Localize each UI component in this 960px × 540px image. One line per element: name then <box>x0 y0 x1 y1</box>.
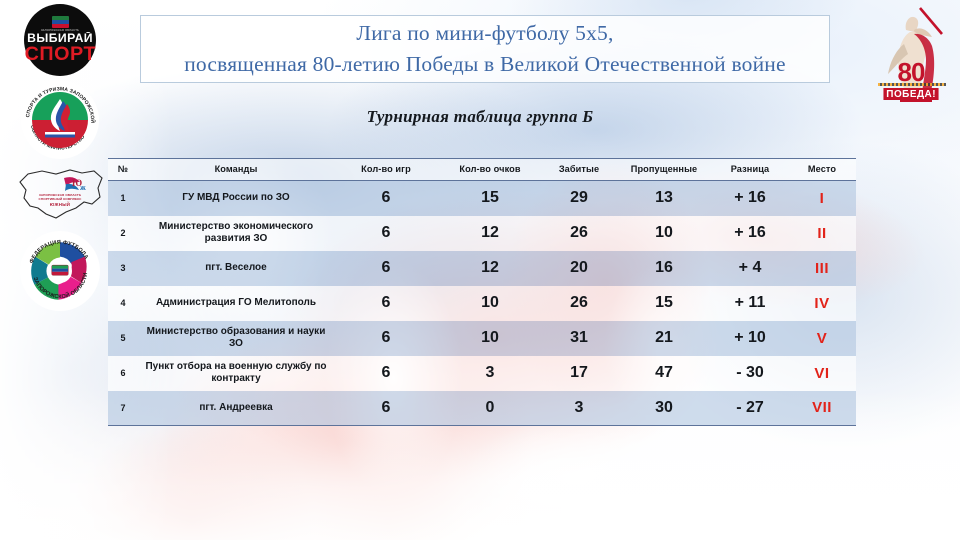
header-points: Кол-во очков <box>438 159 542 181</box>
cell-team: Администрация ГО Мелитополь <box>138 286 334 321</box>
header-team: Команды <box>138 159 334 181</box>
header-number: № <box>108 159 138 181</box>
cell-place: III <box>788 251 856 286</box>
cell-games: 6 <box>334 321 438 356</box>
table-row: 6Пункт отбора на военную службу по контр… <box>108 356 856 391</box>
cell-team: Министерство образования и науки ЗО <box>138 321 334 356</box>
cell-number: 1 <box>108 181 138 216</box>
cell-place: I <box>788 181 856 216</box>
standings-table-head: № Команды Кол-во игр Кол-во очков Забиты… <box>108 159 856 181</box>
svg-text:ж: ж <box>80 183 86 192</box>
cell-goals-for: 17 <box>542 356 616 391</box>
cell-number: 2 <box>108 216 138 251</box>
standings-table-wrapper: № Команды Кол-во игр Кол-во очков Забиты… <box>108 158 856 426</box>
cell-number: 5 <box>108 321 138 356</box>
standings-table: № Команды Кол-во игр Кол-во очков Забиты… <box>108 158 856 426</box>
tricolor-flame-icon <box>47 98 73 132</box>
table-row: 2Министерство экономического развития ЗО… <box>108 216 856 251</box>
logo-victory-label: ПОБЕДА! <box>883 88 938 100</box>
table-row: 4Администрация ГО Мелитополь6102615+ 11I… <box>108 286 856 321</box>
table-row: 1ГУ МВД России по ЗО6152913+ 16I <box>108 181 856 216</box>
cell-goals-against: 30 <box>616 391 712 426</box>
cell-goals-against: 15 <box>616 286 712 321</box>
cell-place: IV <box>788 286 856 321</box>
cell-goals-against: 21 <box>616 321 712 356</box>
logo-vybiray-sport-region: ЗАПОРОЖСКАЯ ОБЛАСТЬ <box>41 29 79 32</box>
title-line-1: Лига по мини-футболу 5х5, <box>356 18 613 49</box>
cell-points: 12 <box>438 216 542 251</box>
cell-team: Министерство экономического развития ЗО <box>138 216 334 251</box>
cell-points: 10 <box>438 321 542 356</box>
cell-place: VII <box>788 391 856 426</box>
logo-victory-text: 80 ПОБЕДА! <box>870 61 952 102</box>
cell-goals-for: 3 <box>542 391 616 426</box>
cell-points: 12 <box>438 251 542 286</box>
logo-football-federation-icon: ФЕДЕРАЦИЯ ФУТБОЛА ЗАПОРОЖСКОЙ ОБЛАСТИ <box>20 231 100 311</box>
subtitle: Турнирная таблица группа Б <box>0 107 960 127</box>
cell-games: 6 <box>334 216 438 251</box>
logo-victory-number: 80 <box>870 61 952 84</box>
table-row: 3пгт. Веселое6122016+ 4III <box>108 251 856 286</box>
cell-place: V <box>788 321 856 356</box>
cell-difference: + 10 <box>712 321 788 356</box>
header-place: Место <box>788 159 856 181</box>
tricolor-shield-icon <box>52 16 69 28</box>
logo-sport-complex-line3: ЮЖНЫЙ <box>17 202 103 207</box>
cell-difference: - 30 <box>712 356 788 391</box>
cell-goals-for: 29 <box>542 181 616 216</box>
cell-team: пгт. Веселое <box>138 251 334 286</box>
cell-number: 7 <box>108 391 138 426</box>
logo-vybiray-sport-word2: СПОРТ <box>24 45 95 64</box>
cell-team: ГУ МВД России по ЗО <box>138 181 334 216</box>
cell-goals-against: 13 <box>616 181 712 216</box>
cell-place: II <box>788 216 856 251</box>
cell-difference: + 16 <box>712 216 788 251</box>
cell-points: 10 <box>438 286 542 321</box>
cell-difference: + 4 <box>712 251 788 286</box>
logo-sport-complex-line2: СПОРТИВНЫЙ КОМПЛЕКС <box>17 197 103 201</box>
cell-games: 6 <box>334 356 438 391</box>
logo-victory-80-icon: 80 ПОБЕДА! <box>870 4 954 104</box>
cell-goals-against: 10 <box>616 216 712 251</box>
cell-team: Пункт отбора на военную службу по контра… <box>138 356 334 391</box>
cell-goals-for: 26 <box>542 286 616 321</box>
table-row: 5Министерство образования и науки ЗО6103… <box>108 321 856 356</box>
cell-team: пгт. Андреевка <box>138 391 334 426</box>
header-row: № Команды Кол-во игр Кол-во очков Забиты… <box>108 159 856 181</box>
header-difference: Разница <box>712 159 788 181</box>
cell-place: VI <box>788 356 856 391</box>
cell-number: 3 <box>108 251 138 286</box>
cell-difference: + 11 <box>712 286 788 321</box>
logo-ministry-sport-tourism-icon: СПОРТА И ТУРИЗМА ЗАПОРОЖСКОЙ ОБЛАСТИ МИН… <box>21 81 99 159</box>
cell-goals-against: 47 <box>616 356 712 391</box>
cell-games: 6 <box>334 181 438 216</box>
cell-games: 6 <box>334 391 438 426</box>
cell-games: 6 <box>334 251 438 286</box>
table-row: 7пгт. Андреевка60330- 27VII <box>108 391 856 426</box>
cell-goals-for: 26 <box>542 216 616 251</box>
title-box: Лига по мини-футболу 5х5, посвященная 80… <box>140 15 830 83</box>
logo-sport-complex-yuzhny-icon: Ю ж ЗАПОРОЖСКАЯ ОБЛАСТЬ СПОРТИВНЫЙ КОМПЛ… <box>12 164 108 226</box>
cell-goals-for: 31 <box>542 321 616 356</box>
logo-sport-complex-caption: ЗАПОРОЖСКАЯ ОБЛАСТЬ СПОРТИВНЫЙ КОМПЛЕКС … <box>17 193 103 207</box>
cell-difference: + 16 <box>712 181 788 216</box>
cell-games: 6 <box>334 286 438 321</box>
cell-points: 15 <box>438 181 542 216</box>
cell-number: 6 <box>108 356 138 391</box>
logo-ministry-disc <box>32 92 88 148</box>
header-goals-for: Забитые <box>542 159 616 181</box>
header-goals-against: Пропущенные <box>616 159 712 181</box>
title-line-2: посвященная 80-летию Победы в Великой От… <box>184 49 786 80</box>
cell-number: 4 <box>108 286 138 321</box>
cell-goals-for: 20 <box>542 251 616 286</box>
cell-goals-against: 16 <box>616 251 712 286</box>
standings-table-body: 1ГУ МВД России по ЗО6152913+ 16I2Министе… <box>108 181 856 426</box>
cell-difference: - 27 <box>712 391 788 426</box>
logo-vybiray-sport-icon: ЗАПОРОЖСКАЯ ОБЛАСТЬ ВЫБИРАЙ СПОРТ <box>24 4 96 76</box>
logo-federation-artwork: ФЕДЕРАЦИЯ ФУТБОЛА ЗАПОРОЖСКОЙ ОБЛАСТИ <box>20 231 100 311</box>
cell-points: 3 <box>438 356 542 391</box>
slide-canvas: ЗАПОРОЖСКАЯ ОБЛАСТЬ ВЫБИРАЙ СПОРТ СПОРТА… <box>0 0 960 540</box>
flame-bowl-icon <box>45 132 75 140</box>
cell-points: 0 <box>438 391 542 426</box>
logo-column: ЗАПОРОЖСКАЯ ОБЛАСТЬ ВЫБИРАЙ СПОРТ СПОРТА… <box>8 4 112 311</box>
header-games: Кол-во игр <box>334 159 438 181</box>
